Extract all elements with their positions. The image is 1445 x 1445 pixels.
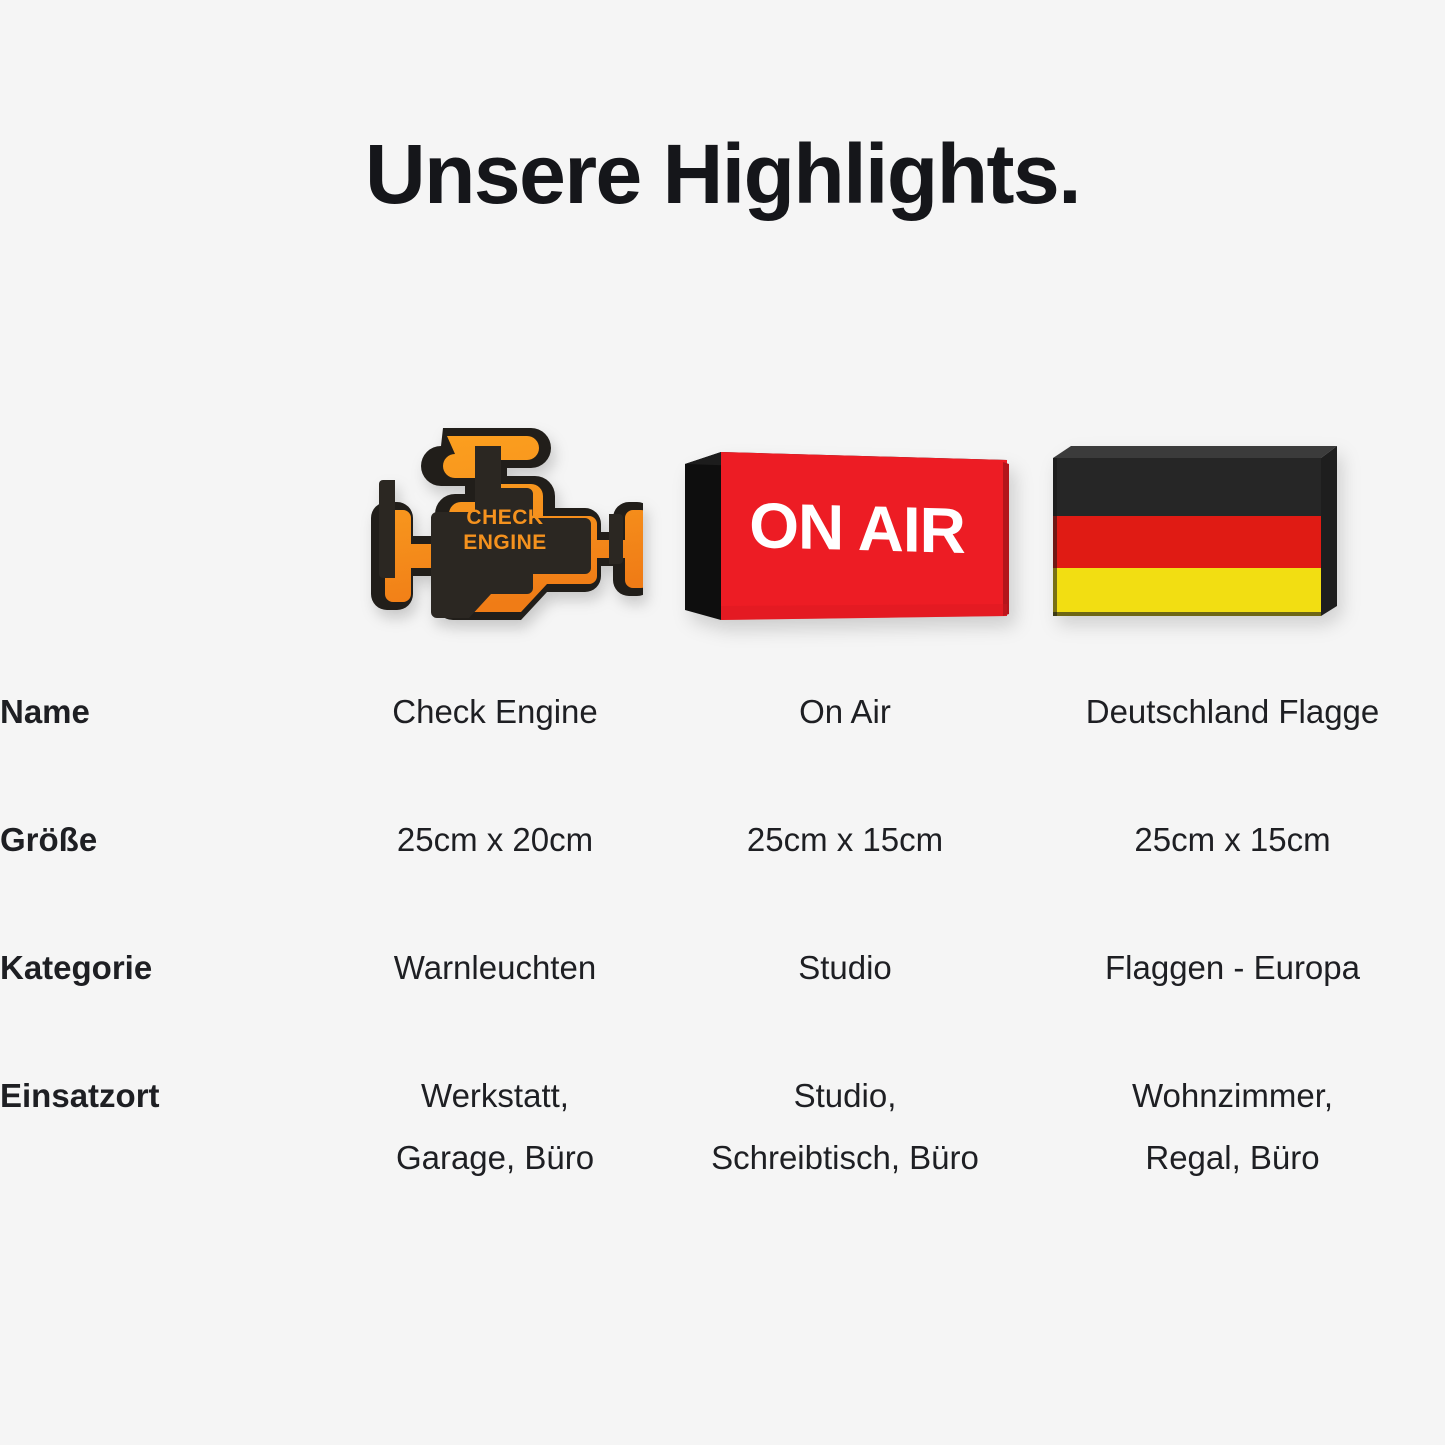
row-label-name: Name <box>0 690 320 818</box>
cell-text: Warnleuchten <box>320 946 670 990</box>
product-image-check-engine[interactable]: CHECK ENGINE <box>320 410 670 660</box>
cell-name-flagge: Deutschland Flagge <box>1020 690 1445 818</box>
cell-text: Wohnzimmer, <box>1020 1074 1445 1118</box>
cell-text: 25cm x 15cm <box>1020 818 1445 862</box>
cell-kategorie-check-engine: Warnleuchten <box>320 946 670 1074</box>
highlights-page: Unsere Highlights. <box>0 0 1445 1445</box>
cell-text: Studio, <box>670 1074 1020 1118</box>
cell-text: Schreibtisch, Büro <box>670 1136 1020 1180</box>
product-image-row: CHECK ENGINE ON <box>0 410 1445 660</box>
cell-text: Deutschland Flagge <box>1020 690 1445 734</box>
table-row: Größe 25cm x 20cm 25cm x 15cm 25cm x 15c… <box>0 818 1445 946</box>
table-row: Kategorie Warnleuchten Studio Flaggen - … <box>0 946 1445 1074</box>
cell-text: Regal, Büro <box>1020 1136 1445 1180</box>
cell-text: 25cm x 15cm <box>670 818 1020 862</box>
cell-einsatzort-on-air: Studio, Schreibtisch, Büro <box>670 1074 1020 1224</box>
cell-groesse-flagge: 25cm x 15cm <box>1020 818 1445 946</box>
cell-kategorie-on-air: Studio <box>670 946 1020 1074</box>
page-title: Unsere Highlights. <box>0 132 1445 216</box>
cell-text: On Air <box>670 690 1020 734</box>
cell-groesse-on-air: 25cm x 15cm <box>670 818 1020 946</box>
cell-einsatzort-flagge: Wohnzimmer, Regal, Büro <box>1020 1074 1445 1224</box>
product-image-deutschland-flagge[interactable] <box>1020 410 1370 660</box>
row-label-einsatzort: Einsatzort <box>0 1074 320 1224</box>
germany-flag-lightbox-graphic <box>1045 434 1345 634</box>
row-label-kategorie: Kategorie <box>0 946 320 1074</box>
table-row: Name Check Engine On Air Deutschland Fla… <box>0 690 1445 818</box>
cell-text: Flaggen - Europa <box>1020 946 1445 990</box>
cell-text: 25cm x 20cm <box>320 818 670 862</box>
row-label-groesse: Größe <box>0 818 320 946</box>
cell-groesse-check-engine: 25cm x 20cm <box>320 818 670 946</box>
on-air-lightbox-graphic: ON AIR <box>677 438 1013 638</box>
product-image-on-air[interactable]: ON AIR <box>670 410 1020 660</box>
table-row: Einsatzort Werkstatt, Garage, Büro Studi… <box>0 1074 1445 1224</box>
check-engine-lamp-graphic: CHECK ENGINE <box>347 418 643 640</box>
cell-name-on-air: On Air <box>670 690 1020 818</box>
cell-name-check-engine: Check Engine <box>320 690 670 818</box>
cell-text: Werkstatt, <box>320 1074 670 1118</box>
cell-kategorie-flagge: Flaggen - Europa <box>1020 946 1445 1074</box>
cell-einsatzort-check-engine: Werkstatt, Garage, Büro <box>320 1074 670 1224</box>
specifications-table: Name Check Engine On Air Deutschland Fla… <box>0 690 1445 1224</box>
cell-text: Studio <box>670 946 1020 990</box>
cell-text: Garage, Büro <box>320 1136 670 1180</box>
cell-text: Check Engine <box>320 690 670 734</box>
